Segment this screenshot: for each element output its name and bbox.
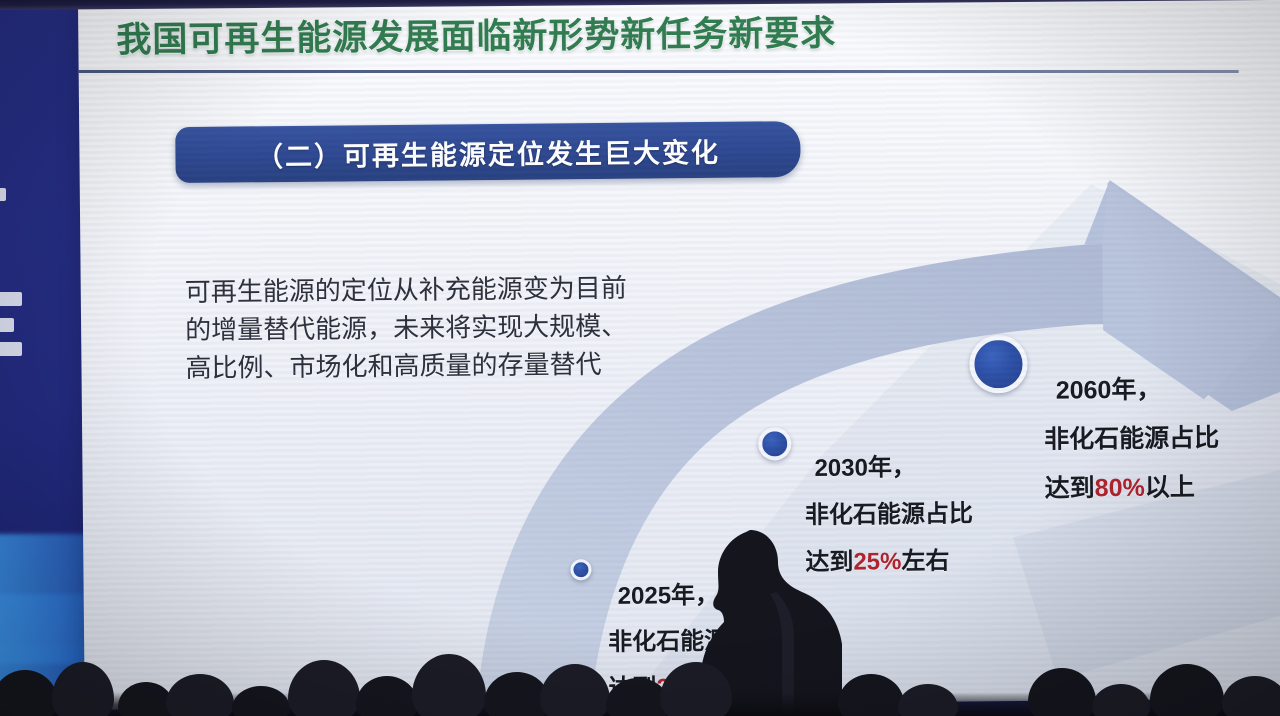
milestone-year-2060: 2060年， xyxy=(1044,365,1219,416)
milestone-marker-2030 xyxy=(758,427,791,460)
milestone-suffix-2030: 左右 xyxy=(901,548,949,575)
projected-slide: 我国可再生能源发展面临新形势新任务新要求 （二）可再生能源定位发生巨大变化 可再… xyxy=(78,0,1280,710)
milestone-line2-2060: 非化石能源占比 xyxy=(1044,414,1219,465)
milestone-annotation-2060: 2060年， 非化石能源占比 达到80%以上 xyxy=(1044,365,1220,514)
milestone-year-2030: 2030年， xyxy=(804,443,972,492)
backdrop-graphic-bar xyxy=(0,318,14,332)
milestone-prefix-2060: 达到 xyxy=(1045,474,1095,502)
backdrop-graphic-bar xyxy=(0,188,6,201)
milestone-value-2060: 80% xyxy=(1095,474,1145,502)
milestone-marker-2025 xyxy=(570,559,591,580)
backdrop-graphic-bar xyxy=(0,292,22,306)
photo-frame: 我国可再生能源发展面临新形势新任务新要求 （二）可再生能源定位发生巨大变化 可再… xyxy=(0,0,1280,716)
milestone-suffix-2060: 以上 xyxy=(1145,473,1195,501)
milestone-value-2030: 25% xyxy=(853,548,901,575)
milestone-line3-2060: 达到80%以上 xyxy=(1044,463,1219,514)
milestone-marker-2060 xyxy=(969,335,1028,394)
backdrop-graphic-bar xyxy=(0,342,22,356)
